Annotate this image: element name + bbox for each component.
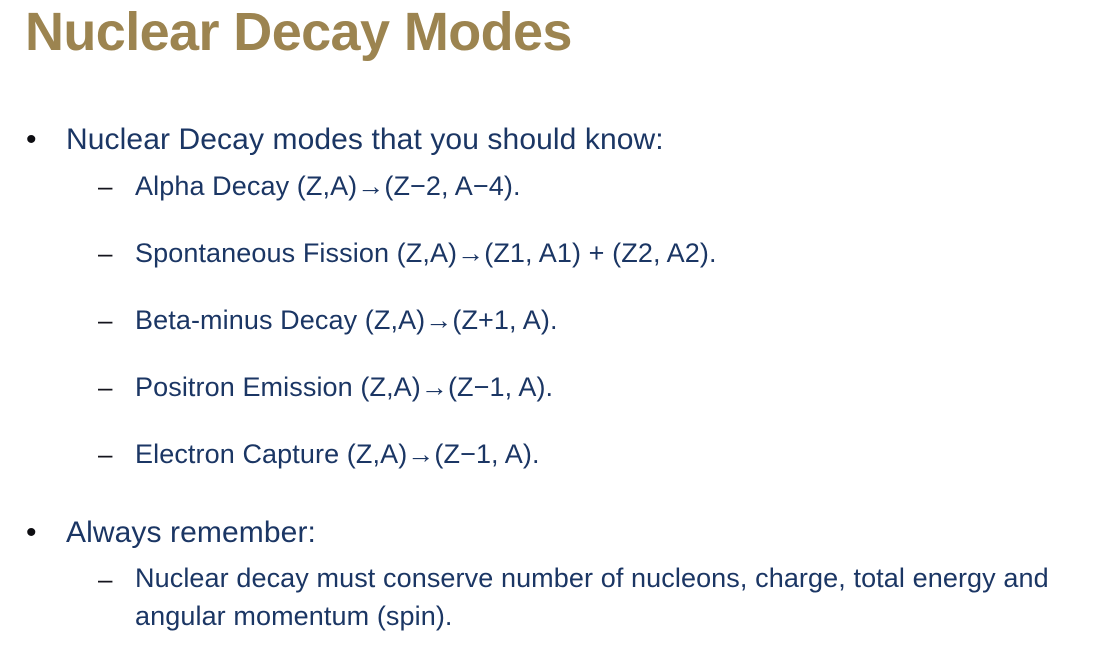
list-item-conservation-rule: – Nuclear decay must conserve number of …: [0, 559, 1118, 635]
list-item-electron-capture: – Electron Capture (Z,A)→(Z−1, A).: [0, 434, 1118, 475]
dash-marker-icon: –: [98, 367, 135, 408]
bullet-label-always-remember: Always remember:: [66, 511, 1118, 555]
list-item-label-conservation-rule: Nuclear decay must conserve number of nu…: [135, 559, 1094, 635]
dash-marker-icon: –: [98, 559, 135, 600]
list-item-label-positron-emission: Positron Emission (Z,A)→(Z−1, A).: [135, 367, 1118, 408]
list-item-label-electron-capture: Electron Capture (Z,A)→(Z−1, A).: [135, 434, 1118, 475]
list-item-positron-emission: – Positron Emission (Z,A)→(Z−1, A).: [0, 367, 1118, 408]
list-item-alpha-decay: – Alpha Decay (Z,A)→(Z−2, A−4).: [0, 166, 1118, 207]
dash-marker-icon: –: [98, 166, 135, 207]
list-item-spontaneous-fission: – Spontaneous Fission (Z,A)→(Z1, A1) + (…: [0, 233, 1118, 274]
list-item-label-spontaneous-fission: Spontaneous Fission (Z,A)→(Z1, A1) + (Z2…: [135, 233, 1118, 274]
list-item-label-alpha-decay: Alpha Decay (Z,A)→(Z−2, A−4).: [135, 166, 1118, 207]
bullet-label-decay-modes: Nuclear Decay modes that you should know…: [66, 118, 1118, 162]
list-item-beta-minus-decay: – Beta-minus Decay (Z,A)→(Z+1, A).: [0, 300, 1118, 341]
dash-marker-icon: –: [98, 300, 135, 341]
page-title: Nuclear Decay Modes: [25, 2, 572, 62]
bullet-item-always-remember: • Always remember:: [0, 511, 1118, 555]
dash-marker-icon: –: [98, 434, 135, 475]
dash-marker-icon: –: [98, 233, 135, 274]
slide-canvas: Nuclear Decay Modes • Nuclear Decay mode…: [0, 0, 1118, 663]
slide-body: • Nuclear Decay modes that you should kn…: [0, 118, 1118, 635]
list-item-label-beta-minus-decay: Beta-minus Decay (Z,A)→(Z+1, A).: [135, 300, 1118, 341]
bullet-dot-icon: •: [24, 511, 66, 555]
section-spacer: [0, 501, 1118, 511]
bullet-dot-icon: •: [24, 118, 66, 162]
bullet-item-decay-modes: • Nuclear Decay modes that you should kn…: [0, 118, 1118, 162]
